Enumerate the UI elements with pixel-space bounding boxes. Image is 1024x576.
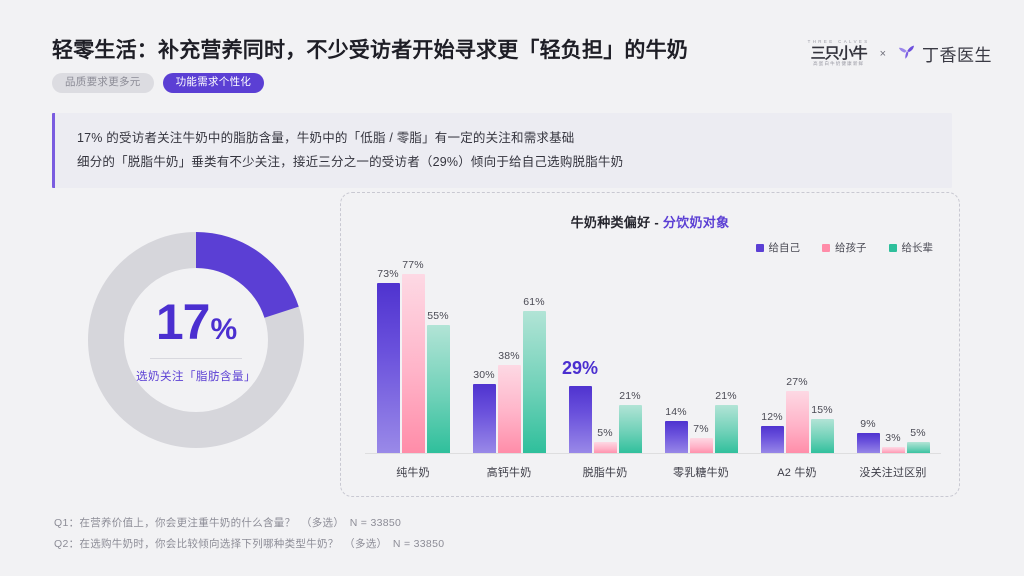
bar-group: 14%7%21% — [653, 255, 749, 454]
category-label: 零乳糖牛奶 — [653, 464, 749, 480]
category-label: A2 牛奶 — [749, 464, 845, 480]
bar-value-label: 73% — [377, 268, 399, 280]
bar-column[interactable]: 3% — [882, 255, 905, 454]
footnote-q1: Q1：在营养价值上，你会更注重牛奶的什么含量？ （多选） N = 33850 — [54, 513, 444, 533]
bar-column[interactable]: 77% — [402, 255, 425, 454]
category-label: 纯牛奶 — [365, 464, 461, 480]
insight-callout: 17% 的受访者关注牛奶中的脂肪含量，牛奶中的「低脂 / 零脂」有一定的关注和需… — [52, 113, 952, 188]
bar-column[interactable]: 73% — [377, 255, 400, 454]
bar[interactable] — [619, 405, 642, 454]
bar-group: 9%3%5% — [845, 255, 941, 454]
bar-column[interactable]: 38% — [498, 255, 521, 454]
bar-column[interactable]: 12% — [761, 255, 784, 454]
page-header: 轻零生活：补充营养同时，不少受访者开始寻求更「轻负担」的牛奶 品质要求更多元 功… — [52, 38, 1008, 100]
bar-column[interactable]: 7% — [690, 255, 713, 454]
bar[interactable] — [377, 283, 400, 454]
bar[interactable] — [811, 419, 834, 454]
bar-value-label: 7% — [693, 423, 709, 435]
butterfly-icon — [896, 40, 918, 67]
bar[interactable] — [569, 386, 592, 454]
bar-value-label: 14% — [665, 406, 687, 418]
logo-tagline-cn: 高蛋白牛奶健康新鲜 — [813, 62, 864, 67]
bar[interactable] — [498, 365, 521, 454]
bar-column[interactable]: 5% — [907, 255, 930, 454]
legend-item-kid[interactable]: 给孩子 — [822, 240, 867, 255]
bar-value-label: 9% — [860, 418, 876, 430]
legend-swatch-kid — [822, 244, 830, 252]
bar-group: 30%38%61% — [461, 255, 557, 454]
bar-column[interactable]: 30% — [473, 255, 496, 454]
bar-column[interactable]: 9% — [857, 255, 880, 454]
category-label: 脱脂牛奶 — [557, 464, 653, 480]
bar-value-label: 77% — [402, 259, 424, 271]
bar[interactable] — [761, 426, 784, 454]
callout-line-2: 细分的「脱脂牛奶」垂类有不少关注，接近三分之一的受访者（29%）倾向于给自己选购… — [77, 150, 952, 174]
footnotes: Q1：在营养价值上，你会更注重牛奶的什么含量？ （多选） N = 33850 Q… — [54, 513, 444, 554]
chart-title-main: 牛奶种类偏好 - — [571, 215, 663, 230]
logo-dxy: 丁香医生 — [896, 40, 992, 67]
x-axis-line — [365, 453, 941, 454]
logo-three-calves: THREE CALVES 三只小牛 高蛋白牛奶健康新鲜 — [808, 40, 870, 67]
logo-dxy-text: 丁香医生 — [922, 41, 992, 66]
legend-label-self: 给自己 — [769, 240, 801, 255]
bar-groups: 73%77%55%30%38%61%29%5%21%14%7%21%12%27%… — [365, 255, 941, 454]
bar-value-label: 38% — [498, 350, 520, 362]
bar-chart-panel: 牛奶种类偏好 - 分饮奶对象 给自己 给孩子 给长辈 73%77%55%30%3… — [340, 192, 960, 497]
chart-title-highlight: 分饮奶对象 — [663, 215, 730, 230]
bar-value-label: 27% — [786, 376, 808, 388]
bar[interactable] — [473, 384, 496, 454]
chart-title: 牛奶种类偏好 - 分饮奶对象 — [341, 212, 959, 231]
bar-value-label: 15% — [811, 404, 833, 416]
tag-quality[interactable]: 品质要求更多元 — [52, 73, 154, 93]
bar-group: 29%5%21% — [557, 255, 653, 454]
footnote-q2: Q2：在选购牛奶时，你会比较倾向选择下列哪种类型牛奶？ （多选） N = 338… — [54, 534, 444, 554]
bar-column[interactable]: 21% — [715, 255, 738, 454]
legend-swatch-self — [756, 244, 764, 252]
bar-value-label: 12% — [761, 411, 783, 423]
legend-item-self[interactable]: 给自己 — [756, 240, 801, 255]
bar-value-label: 61% — [523, 296, 545, 308]
plot-area: 73%77%55%30%38%61%29%5%21%14%7%21%12%27%… — [365, 255, 941, 454]
tag-row: 品质要求更多元 功能需求个性化 — [52, 73, 1008, 93]
bar[interactable] — [427, 325, 450, 454]
bar-value-label: 3% — [885, 432, 901, 444]
legend-swatch-elder — [889, 244, 897, 252]
bar-group: 73%77%55% — [365, 255, 461, 454]
legend-label-kid: 给孩子 — [835, 240, 867, 255]
tag-function[interactable]: 功能需求个性化 — [163, 73, 265, 93]
bar[interactable] — [402, 274, 425, 454]
chart-legend: 给自己 给孩子 给长辈 — [756, 240, 934, 255]
bar-value-label: 5% — [910, 427, 926, 439]
category-labels: 纯牛奶高钙牛奶脱脂牛奶零乳糖牛奶A2 牛奶没关注过区别 — [365, 464, 941, 480]
bar-value-label: 30% — [473, 369, 495, 381]
category-label: 高钙牛奶 — [461, 464, 557, 480]
bar[interactable] — [786, 391, 809, 454]
legend-label-elder: 给长辈 — [902, 240, 934, 255]
bar-value-label: 55% — [427, 310, 449, 322]
logo-brand-name: 三只小牛 — [811, 46, 867, 62]
bar-column[interactable]: 5% — [594, 255, 617, 454]
bar-value-label: 5% — [597, 427, 613, 439]
callout-line-1: 17% 的受访者关注牛奶中的脂肪含量，牛奶中的「低脂 / 零脂」有一定的关注和需… — [77, 126, 952, 150]
bar[interactable] — [857, 433, 880, 454]
bar-group: 12%27%15% — [749, 255, 845, 454]
bar[interactable] — [523, 311, 546, 454]
bar[interactable] — [665, 421, 688, 454]
brand-logos: THREE CALVES 三只小牛 高蛋白牛奶健康新鲜 × 丁香医生 — [808, 40, 992, 67]
legend-item-elder[interactable]: 给长辈 — [889, 240, 934, 255]
bar-column[interactable]: 15% — [811, 255, 834, 454]
bar-column[interactable]: 21% — [619, 255, 642, 454]
bar-value-label: 21% — [715, 390, 737, 402]
bar-column[interactable]: 29% — [569, 255, 592, 454]
bar-value-label: 21% — [619, 390, 641, 402]
donut-chart: 17% 选奶关注「脂肪含量」 — [76, 218, 316, 462]
bar[interactable] — [715, 405, 738, 454]
logo-separator: × — [879, 48, 887, 60]
bar-column[interactable]: 61% — [523, 255, 546, 454]
category-label: 没关注过区别 — [845, 464, 941, 480]
bar-column[interactable]: 14% — [665, 255, 688, 454]
bar-column[interactable]: 27% — [786, 255, 809, 454]
bar-column[interactable]: 55% — [427, 255, 450, 454]
bar[interactable] — [690, 438, 713, 454]
